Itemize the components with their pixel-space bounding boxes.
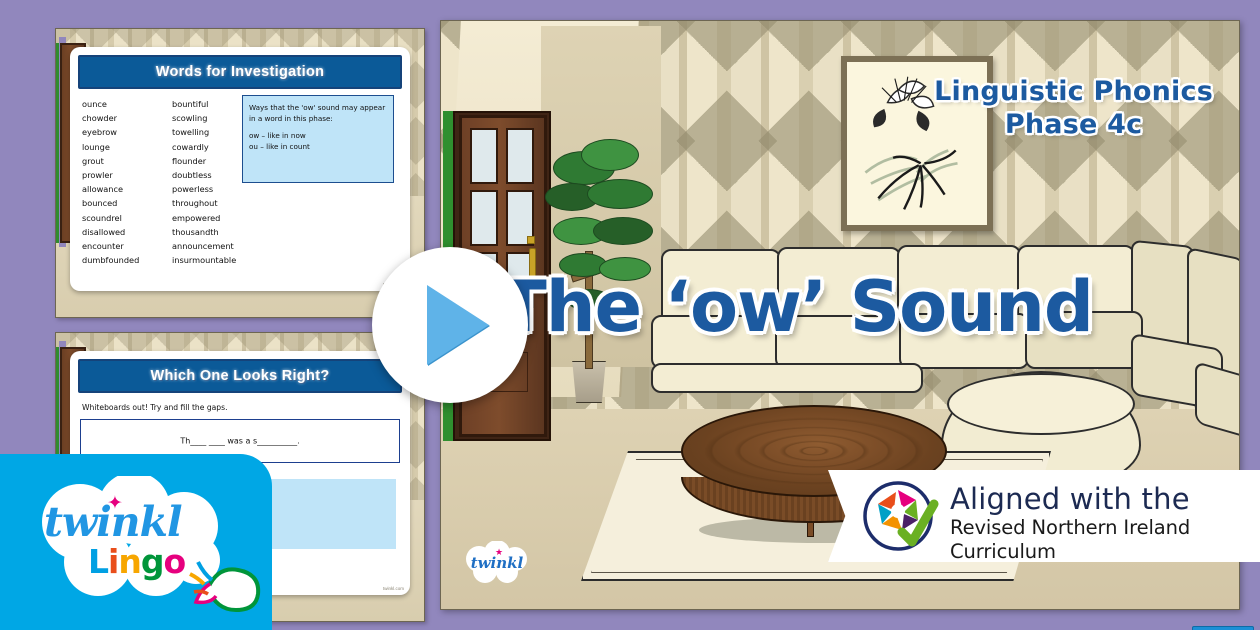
- thumbnail-slide-1[interactable]: Words for Investigation ounce chowder ey…: [55, 28, 425, 318]
- door-lock-icon: [527, 236, 535, 244]
- word-item: ounce: [82, 97, 148, 111]
- quality-standard-badge: Quality Standard Approved: [1192, 626, 1254, 630]
- thumb1-card: Words for Investigation ounce chowder ey…: [70, 47, 410, 291]
- word-item: scoundrel: [82, 211, 148, 225]
- plant-foliage: [587, 179, 653, 209]
- aperture-checkmark-icon: [862, 478, 940, 556]
- screenshot-root: Words for Investigation ounce chowder ey…: [0, 0, 1260, 630]
- twinkl-watermark: twinkl ★: [459, 541, 537, 585]
- sofa-arm-lower: [1195, 361, 1240, 439]
- word-item: grout: [82, 154, 148, 168]
- info-box-rule-2: ou – like in count: [243, 142, 393, 153]
- word-item: chowder: [82, 111, 148, 125]
- aligned-with-banner: Aligned with the Revised Northern Irelan…: [828, 470, 1260, 562]
- word-item: eyebrow: [82, 125, 148, 139]
- word-column-1: ounce chowder eyebrow lounge grout prowl…: [82, 97, 148, 267]
- word-item: powerless: [172, 182, 256, 196]
- word-item: empowered: [172, 211, 256, 225]
- door-pane: [470, 128, 498, 184]
- star-icon: ✦: [107, 492, 123, 515]
- sofa-base: [651, 363, 923, 393]
- thumb2-sentence: Th____ ____ was a s__________.: [180, 437, 299, 446]
- word-item: allowance: [82, 182, 148, 196]
- plant-foliage: [581, 139, 639, 171]
- thumb2-heading-text: Which One Looks Right?: [151, 368, 330, 384]
- word-item: lounge: [82, 140, 148, 154]
- word-item: dumbfounded: [82, 253, 148, 267]
- word-item: prowler: [82, 168, 148, 182]
- thumb1-word-lists: ounce chowder eyebrow lounge grout prowl…: [82, 97, 256, 267]
- svg-text:★: ★: [495, 547, 503, 557]
- info-box-rule-1: ow – like in now: [243, 124, 393, 142]
- thumb2-heading-bar: Which One Looks Right?: [78, 359, 402, 393]
- thumb2-instruction: Whiteboards out! Try and fill the gaps.: [82, 403, 227, 412]
- parrot-icon: [188, 548, 262, 612]
- word-item: announcement: [172, 239, 256, 253]
- thumb1-info-box: Ways that the 'ow' sound may appear in a…: [242, 95, 394, 183]
- word-item: insurmountable: [172, 253, 256, 267]
- word-item: encounter: [82, 239, 148, 253]
- slide-title: The ‘ow’ Sound: [499, 269, 1199, 345]
- plant-foliage: [593, 217, 653, 245]
- word-item: disallowed: [82, 225, 148, 239]
- lingo-product-text: Lingo: [88, 542, 185, 581]
- word-item: thousandth: [172, 225, 256, 239]
- twinkl-lingo-badge[interactable]: twinkl ✦ Lingo: [0, 454, 272, 630]
- subtitle-line-1: Linguistic Phonics: [934, 75, 1213, 108]
- thumb2-watermark: twinkl.com: [383, 586, 404, 591]
- door-pane: [470, 190, 498, 246]
- banner-text-block: Aligned with the Revised Northern Irelan…: [950, 482, 1260, 564]
- play-button[interactable]: [372, 247, 528, 403]
- banner-line-1: Aligned with the: [950, 482, 1260, 516]
- ottoman-top: [947, 373, 1135, 435]
- thumb1-heading-text: Words for Investigation: [156, 64, 325, 80]
- word-item: throughout: [172, 196, 256, 210]
- slide-subtitle: Linguistic Phonics Phase 4c: [934, 75, 1213, 141]
- info-box-intro: Ways that the 'ow' sound may appear in a…: [243, 96, 393, 124]
- banner-line-2: Revised Northern Ireland Curriculum: [950, 516, 1260, 564]
- subtitle-line-2: Phase 4c: [934, 108, 1213, 141]
- thumb1-heading-bar: Words for Investigation: [78, 55, 402, 89]
- play-triangle-icon: [427, 285, 489, 365]
- twinkl-cloud-icon: twinkl ★: [459, 541, 537, 585]
- word-item: bounced: [82, 196, 148, 210]
- door-pane: [506, 128, 534, 184]
